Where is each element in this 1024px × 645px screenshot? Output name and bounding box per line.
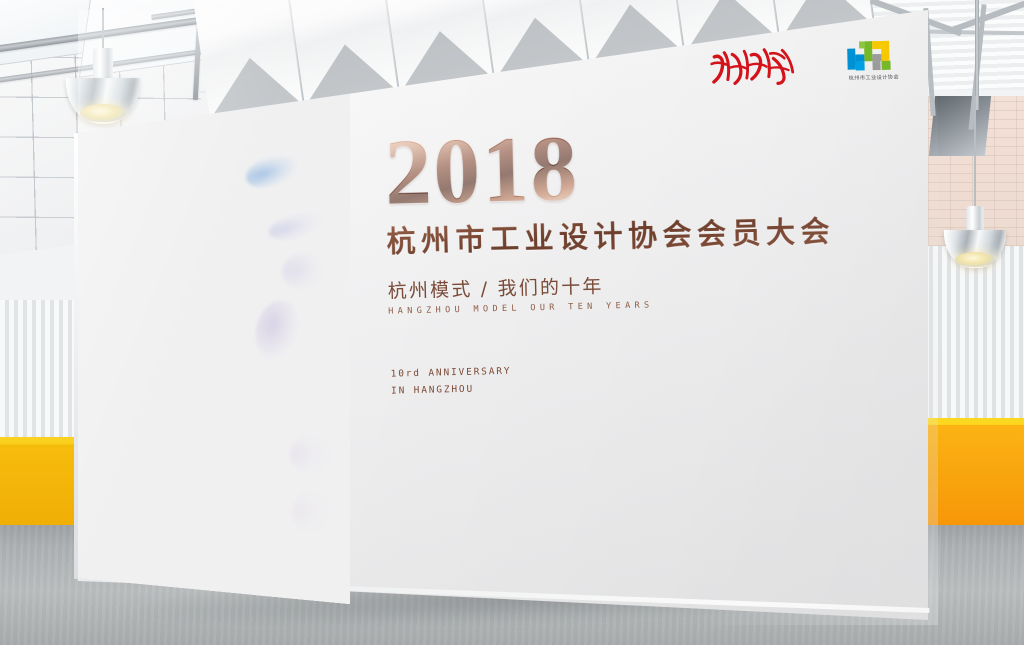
logo-block-blue [847,49,855,70]
anniversary-line-2: IN HANGZHOU [391,383,512,397]
year-2018: 2018 [384,120,856,217]
association-logo-caption: 杭州市工业设计协会 [837,73,911,82]
logo-block-yellow [881,41,889,61]
logo-block-yellow [872,41,881,49]
headline-block: 2018 杭州市工业设计协会会员大会 杭州模式 / 我们的十年 HANGZHOU… [384,120,858,317]
logo-group: 杭州市工业设计协会 [710,38,911,103]
anniversary-block: 10rd ANNIVERSARY IN HANGZHOU [391,366,512,397]
pendant-spot-lamp-right [938,96,1012,272]
scene-root: 杭州市工业设计协会 2018 杭州市工业设计协会会员大会 杭州模式 / 我们的十… [0,0,1024,645]
board-content: 杭州市工业设计协会 2018 杭州市工业设计协会会员大会 杭州模式 / 我们的十… [0,0,1024,645]
logo-block-blue [855,61,864,70]
logo-block-green [859,41,865,48]
lamp-bulb-glow [955,252,995,267]
logo-block-green [881,61,890,70]
anniversary-line-1: 10rd ANNIVERSARY [391,366,512,380]
hangzhou-industrial-design-association-logo: 杭州市工业设计协会 [836,38,911,94]
logo-block-grey [872,61,880,70]
association-logo-marks [845,38,902,71]
lamp-cord [974,96,976,208]
hangzhou-design-calligraphy-logo [710,41,795,89]
